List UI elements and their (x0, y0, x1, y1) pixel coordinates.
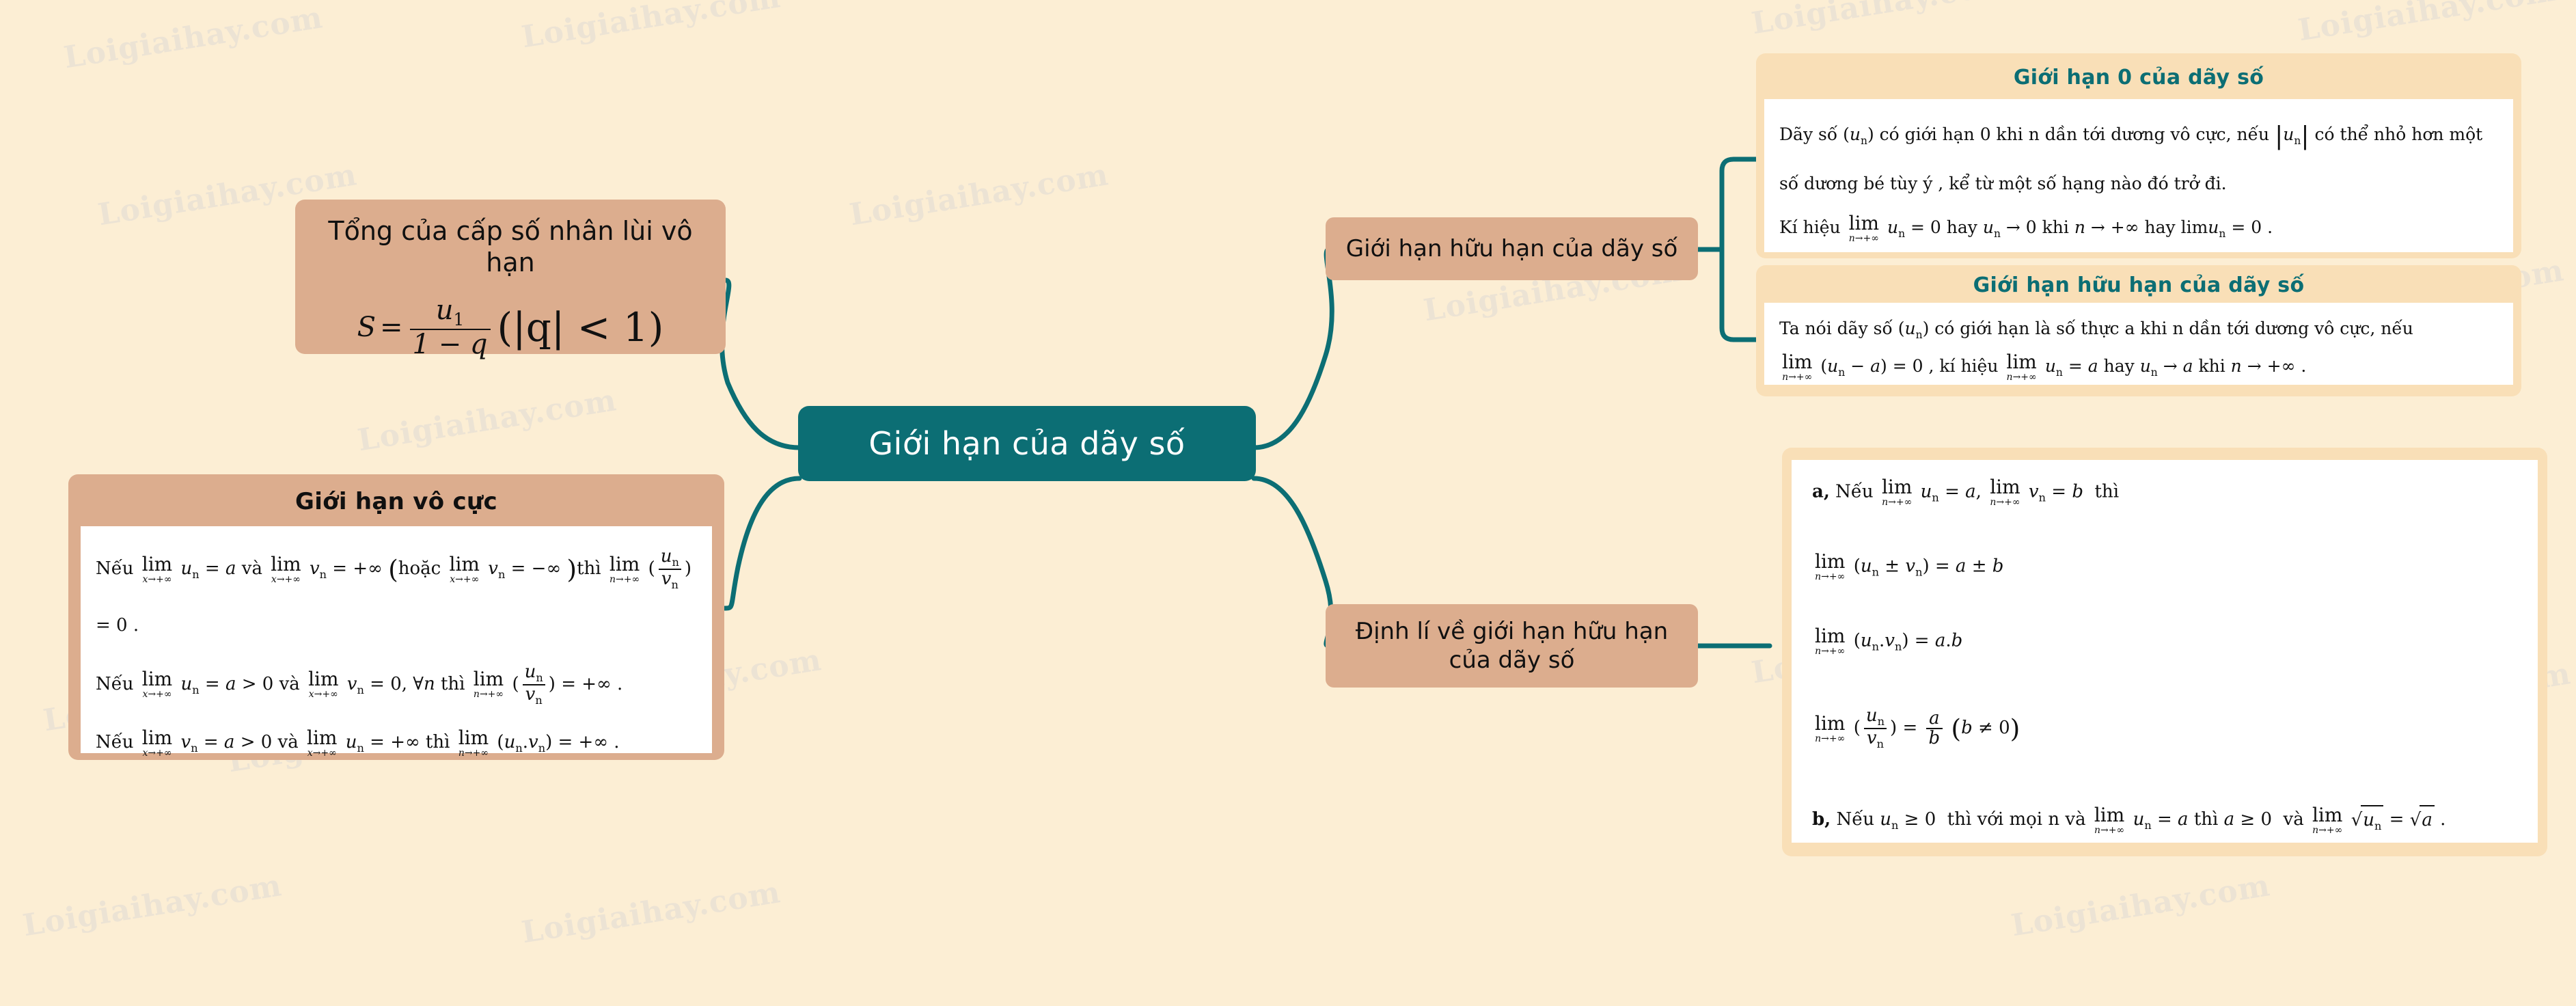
link-center-to-huuhan (1254, 249, 1332, 448)
formula-numerator-sub: 1 (454, 310, 465, 329)
formula-equals: = (380, 310, 403, 344)
gioi-han-0-line-2: số dương bé tùy ý , kể từ một số hạng nà… (1779, 164, 2498, 204)
card-gioi-han-vo-cuc[interactable]: Giới hạn vô cực Nếu limx→+∞ un = a và li… (68, 474, 724, 760)
dinh-li-formula-3: limn→+∞ (unvn) = ab (b ≠ 0) (1812, 707, 2517, 750)
link-center-to-dinhli (1254, 478, 1331, 646)
dinh-li-formula-2: limn→+∞ (un.vn) = a.b (1812, 627, 2517, 656)
vo-cuc-line-2: Nếu limx→+∞ un = a > 0 và limx→+∞ vn = 0… (96, 662, 697, 708)
center-node-label: Giới hạn của dãy số (868, 425, 1185, 462)
formula-denominator: 1 − q (413, 329, 488, 360)
card-huu-han-title: Giới hạn hữu hạn của dãy số (1756, 265, 2521, 303)
mindmap-canvas: Loigiaihay.com Loigiaihay.com Loigiaihay… (0, 0, 2576, 1006)
link-huuhan-branch-top (1722, 159, 1756, 249)
branch-node-huu-han[interactable]: Giới hạn hữu hạn của dãy số (1326, 217, 1698, 280)
card-vo-cuc-title: Giới hạn vô cực (68, 474, 724, 526)
formula-condition: (|q| < 1) (497, 303, 664, 353)
dinh-li-a-label: a, (1812, 482, 1830, 502)
branch-node-huu-han-label: Giới hạn hữu hạn của dãy số (1346, 234, 1678, 264)
card-huu-han-body: Ta nói dãy số (un) có giới hạn là số thự… (1764, 303, 2513, 385)
branch-node-dinh-li[interactable]: Định lí về giới hạn hữu hạn của dãy số (1326, 604, 1698, 688)
gioi-han-0-line-1: Dãy số (un) có giới hạn 0 khi n dần tới … (1779, 107, 2498, 164)
card-gioi-han-0[interactable]: Giới hạn 0 của dãy số Dãy số (un) có giớ… (1756, 53, 2521, 258)
dinh-li-item-a: a, Nếu limn→+∞ un = a, limn→+∞ vn = b th… (1812, 478, 2517, 507)
dinh-li-item-b: b, Nếu un ≥ 0 thì với mọi n và limn→+∞ u… (1812, 805, 2517, 835)
card-dinh-li[interactable]: a, Nếu limn→+∞ un = a, limn→+∞ vn = b th… (1782, 448, 2547, 856)
card-dinh-li-body: a, Nếu limn→+∞ un = a, limn→+∞ vn = b th… (1792, 460, 2538, 843)
card-gioi-han-0-title: Giới hạn 0 của dãy số (1756, 53, 2521, 99)
branch-node-dinh-li-label: Định lí về giới hạn hữu hạn của dãy số (1341, 617, 1683, 675)
card-gioi-han-huu-han[interactable]: Giới hạn hữu hạn của dãy số Ta nói dãy s… (1756, 265, 2521, 396)
formula-numerator: u (436, 295, 454, 326)
card-tong-title: Tổng của cấp số nhân lùi vô hạn (310, 216, 711, 278)
link-huuhan-branch-bottom (1722, 249, 1756, 340)
card-vo-cuc-body: Nếu limx→+∞ un = a và limx→+∞ vn = +∞ (h… (81, 526, 712, 753)
card-tong-cap-so-nhan[interactable]: Tổng của cấp số nhân lùi vô hạn S = u1 1… (295, 200, 726, 354)
center-node[interactable]: Giới hạn của dãy số (798, 406, 1256, 481)
dinh-li-b-label: b, (1812, 809, 1831, 830)
formula-lhs: S (357, 310, 376, 344)
dinh-li-formula-1: limn→+∞ (un ± vn) = a ± b (1812, 552, 2517, 582)
gioi-han-0-notation: Kí hiệu limn→+∞ un = 0 hay un → 0 khi n … (1779, 208, 2498, 247)
huu-han-line-1: Ta nói dãy số (un) có giới hạn là số thự… (1779, 310, 2498, 347)
vo-cuc-line-3: Nếu limx→+∞ vn = a > 0 và limx→+∞ un = +… (96, 720, 697, 766)
card-tong-formula: S = u1 1 − q (|q| < 1) (357, 296, 664, 359)
huu-han-line-2: limn→+∞ (un − a) = 0 , kí hiệu limn→+∞ u… (1779, 347, 2498, 385)
vo-cuc-line-1: Nếu limx→+∞ un = a và limx→+∞ vn = +∞ (h… (96, 536, 697, 649)
link-center-to-tong (722, 280, 799, 448)
link-center-to-vocuc (724, 478, 799, 608)
card-gioi-han-0-body: Dãy số (un) có giới hạn 0 khi n dần tới … (1764, 99, 2513, 252)
